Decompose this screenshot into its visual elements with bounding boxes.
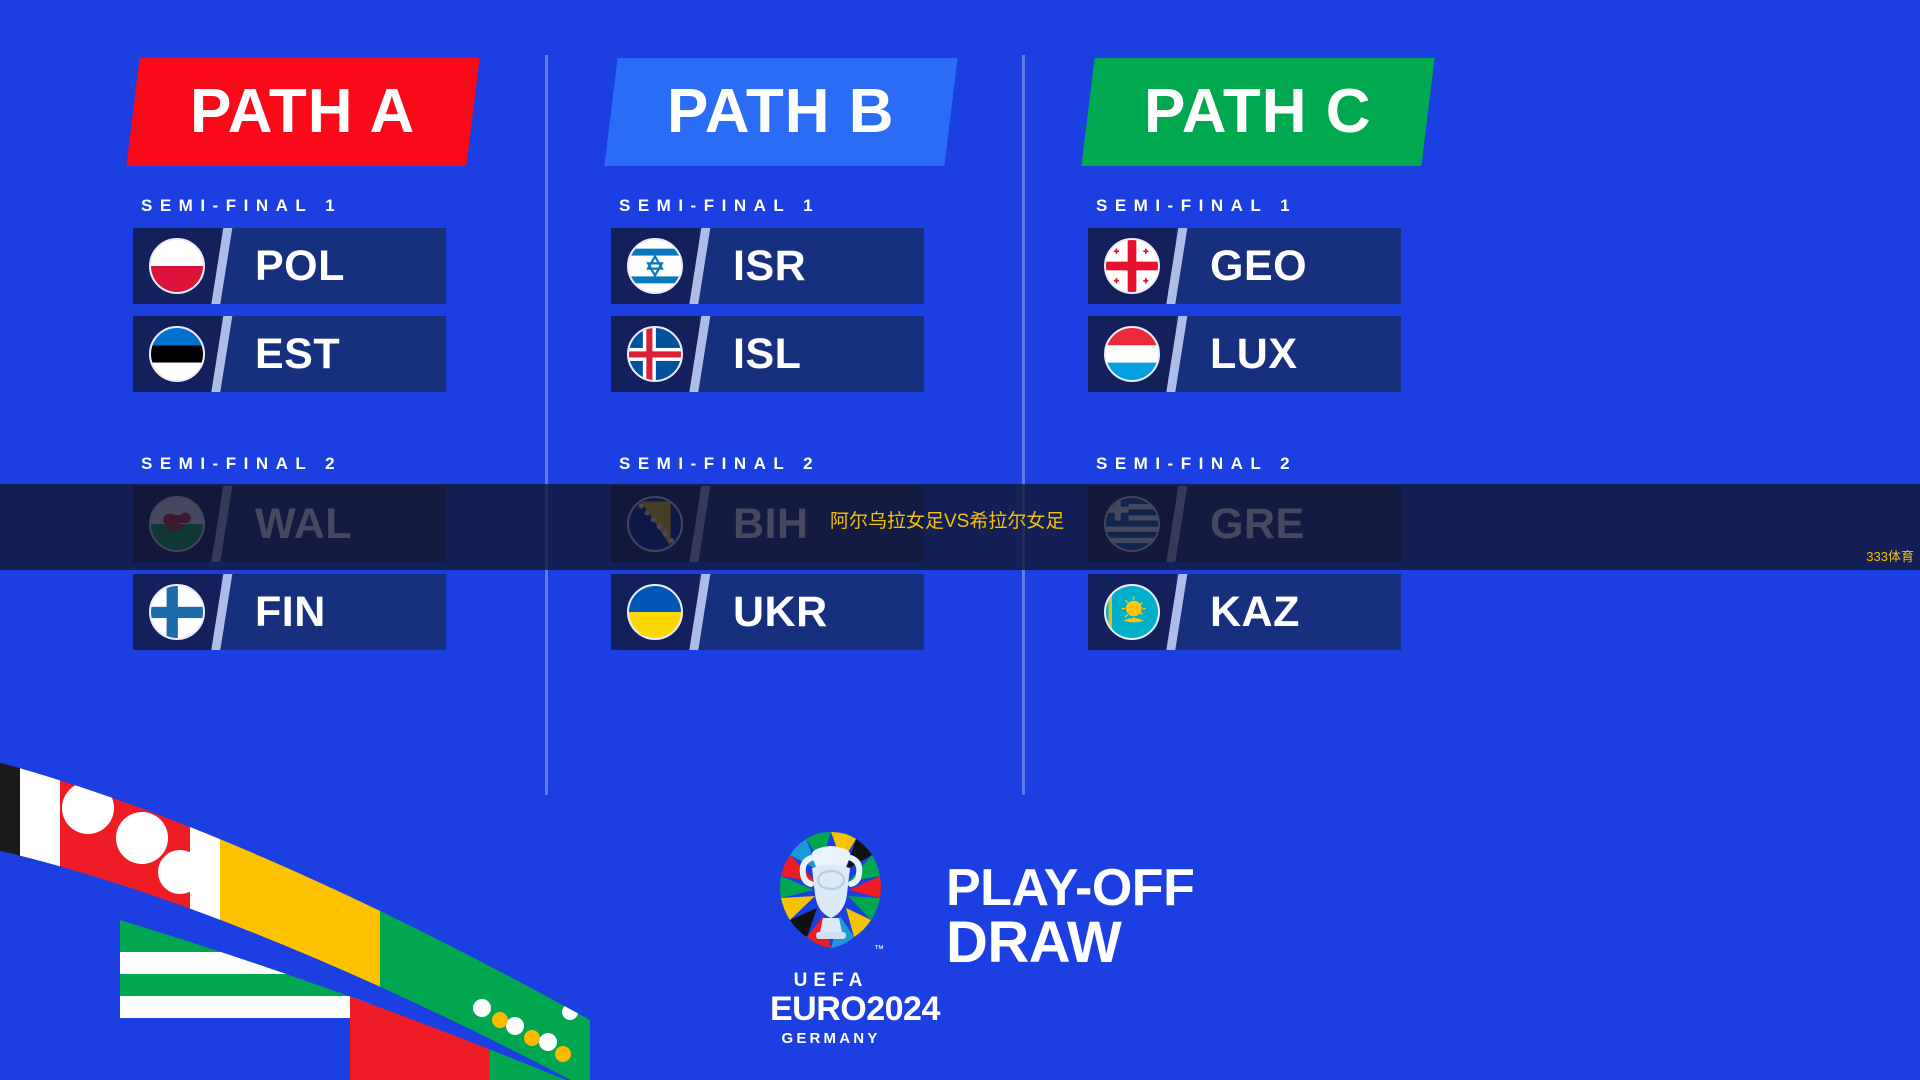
path-b-sf1-label: SEMI-FINAL 1 bbox=[619, 196, 951, 216]
team-row-est[interactable]: EST bbox=[133, 316, 446, 392]
name-pane: POL bbox=[221, 228, 446, 304]
path-c-sf1-label: SEMI-FINAL 1 bbox=[1096, 196, 1428, 216]
path-b-group: PATH B SEMI-FINAL 1 ISR bbox=[611, 58, 951, 650]
team-code: ISL bbox=[733, 333, 801, 376]
path-a-sf2-label: SEMI-FINAL 2 bbox=[141, 454, 473, 474]
trophy-mark-icon: ™ bbox=[770, 828, 892, 968]
flag-pane bbox=[611, 486, 699, 562]
team-code: ISR bbox=[733, 245, 806, 288]
path-b-banner: PATH B bbox=[604, 58, 957, 166]
column-divider-ab bbox=[545, 55, 548, 795]
flag-pane bbox=[133, 228, 221, 304]
flag-pane bbox=[611, 574, 699, 650]
team-code: POL bbox=[255, 245, 345, 288]
israel-flag-icon bbox=[627, 238, 683, 294]
team-code: EST bbox=[255, 333, 340, 376]
euro-word: EURO2024 bbox=[770, 992, 892, 1028]
kazakhstan-flag-icon bbox=[1104, 584, 1160, 640]
germany-word: GERMANY bbox=[770, 1030, 892, 1047]
site-watermark: 333体育 bbox=[1866, 546, 1914, 565]
name-pane: EST bbox=[221, 316, 446, 392]
name-pane: FIN bbox=[221, 574, 446, 650]
flag-pane bbox=[133, 316, 221, 392]
path-a-sf1-label: SEMI-FINAL 1 bbox=[141, 196, 473, 216]
euro-logo-text: UEFA EURO2024 GERMANY bbox=[770, 970, 892, 1047]
team-row-geo[interactable]: GEO bbox=[1088, 228, 1401, 304]
flag-pane bbox=[1088, 574, 1176, 650]
flag-pane bbox=[1088, 486, 1176, 562]
team-row-pol[interactable]: POL bbox=[133, 228, 446, 304]
name-pane: GEO bbox=[1176, 228, 1401, 304]
flag-pane bbox=[133, 486, 221, 562]
path-b-sf2-label: SEMI-FINAL 2 bbox=[619, 454, 951, 474]
playoff-draw-headline: PLAY-OFF DRAW bbox=[946, 828, 1194, 972]
greece-flag-icon bbox=[1104, 496, 1160, 552]
team-code: KAZ bbox=[1210, 591, 1300, 634]
team-row-kaz[interactable]: KAZ bbox=[1088, 574, 1401, 650]
overlay-match-text: 阿尔乌拉女足VS希拉尔女足 bbox=[830, 506, 1064, 533]
team-code: FIN bbox=[255, 591, 326, 634]
uefa-word: UEFA bbox=[770, 970, 892, 992]
georgia-flag-icon bbox=[1104, 238, 1160, 294]
team-row-isr[interactable]: ISR bbox=[611, 228, 924, 304]
path-a-banner: PATH A bbox=[126, 58, 479, 166]
team-row-wal[interactable]: WAL bbox=[133, 486, 446, 562]
path-b-title: PATH B bbox=[667, 81, 895, 143]
team-code: WAL bbox=[255, 503, 352, 546]
team-code: UKR bbox=[733, 591, 828, 634]
flag-pane bbox=[133, 574, 221, 650]
team-row-gre[interactable]: GRE bbox=[1088, 486, 1401, 562]
wales-flag-icon bbox=[149, 496, 205, 552]
euro-2024-playoff-draw-graphic: PATH A SEMI-FINAL 1 POL bbox=[0, 0, 1920, 1080]
name-pane: LUX bbox=[1176, 316, 1401, 392]
iceland-flag-icon bbox=[627, 326, 683, 382]
path-c-banner: PATH C bbox=[1081, 58, 1434, 166]
name-pane: ISR bbox=[699, 228, 924, 304]
path-c-title: PATH C bbox=[1144, 81, 1372, 143]
name-pane: UKR bbox=[699, 574, 924, 650]
flag-pane bbox=[611, 228, 699, 304]
ukraine-flag-icon bbox=[627, 584, 683, 640]
column-divider-bc bbox=[1022, 55, 1025, 795]
team-row-ukr[interactable]: UKR bbox=[611, 574, 924, 650]
path-c-group: PATH C SEMI-FINAL 1 GEO bbox=[1088, 58, 1428, 650]
decorative-flag-ribbon bbox=[0, 690, 590, 1080]
team-row-fin[interactable]: FIN bbox=[133, 574, 446, 650]
brand-block: ™ UEFA EURO2024 GERMANY PLAY-OFF DRAW bbox=[770, 828, 1194, 1047]
svg-text:™: ™ bbox=[874, 944, 884, 955]
path-c-sf2-label: SEMI-FINAL 2 bbox=[1096, 454, 1428, 474]
team-code: GEO bbox=[1210, 245, 1307, 288]
finland-flag-icon bbox=[149, 584, 205, 640]
team-code: LUX bbox=[1210, 333, 1298, 376]
name-pane: ISL bbox=[699, 316, 924, 392]
bosnia-herzegovina-flag-icon bbox=[627, 496, 683, 552]
uefa-euro-2024-trophy-logo: ™ UEFA EURO2024 GERMANY bbox=[770, 828, 892, 1047]
team-code: BIH bbox=[733, 503, 809, 546]
flag-pane bbox=[1088, 316, 1176, 392]
name-pane: GRE bbox=[1176, 486, 1401, 562]
team-row-lux[interactable]: LUX bbox=[1088, 316, 1401, 392]
path-a-title: PATH A bbox=[190, 81, 415, 143]
team-code: GRE bbox=[1210, 503, 1305, 546]
team-row-isl[interactable]: ISL bbox=[611, 316, 924, 392]
path-a-group: PATH A SEMI-FINAL 1 POL bbox=[133, 58, 473, 650]
name-pane: KAZ bbox=[1176, 574, 1401, 650]
name-pane: WAL bbox=[221, 486, 446, 562]
headline-draw: DRAW bbox=[946, 914, 1194, 972]
flag-pane bbox=[1088, 228, 1176, 304]
luxembourg-flag-icon bbox=[1104, 326, 1160, 382]
estonia-flag-icon bbox=[149, 326, 205, 382]
flag-pane bbox=[611, 316, 699, 392]
headline-playoff: PLAY-OFF bbox=[946, 862, 1194, 914]
poland-flag-icon bbox=[149, 238, 205, 294]
